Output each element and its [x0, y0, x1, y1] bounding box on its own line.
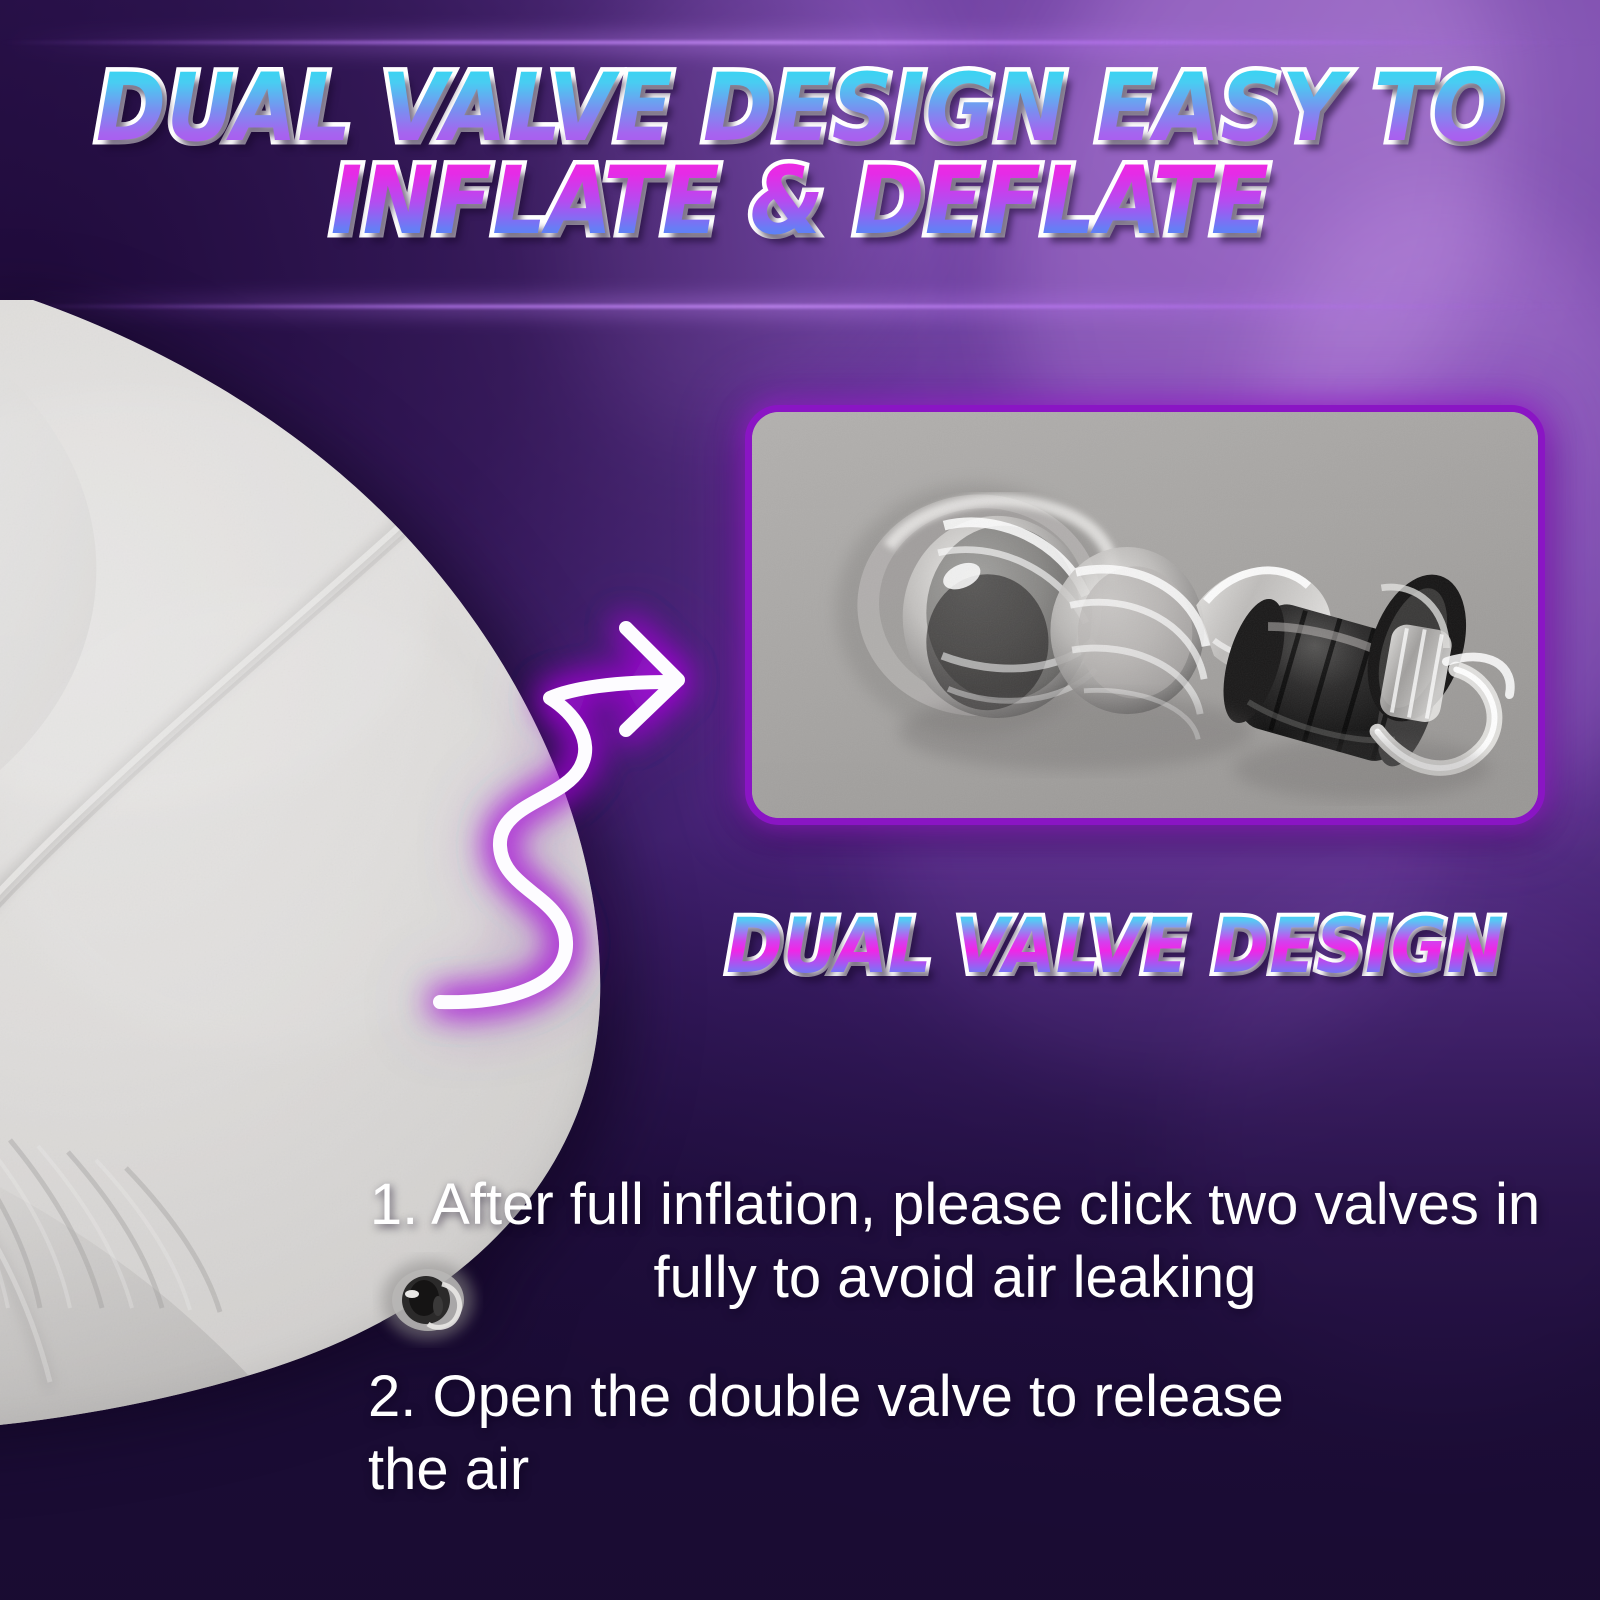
- headline-line-2-text: INFLATE & DEFLATE: [331, 155, 1270, 248]
- instruction-step-2: 2. Open the double valve to release the …: [330, 1360, 1580, 1506]
- glow-divider-line: [0, 41, 1600, 44]
- infographic-canvas: DUAL VALVE DESIGN EASY TO INFLATE & DEFL…: [0, 0, 1600, 1600]
- subhead-text: DUAL VALVE DESIGN: [726, 908, 1504, 984]
- instruction-step-2-line-2: the air: [368, 1433, 1580, 1506]
- subhead: DUAL VALVE DESIGN: [640, 908, 1590, 984]
- instruction-step-1: 1. After full inflation, please click tw…: [330, 1168, 1580, 1314]
- headline-line-2: INFLATE & DEFLATE: [0, 155, 1600, 248]
- valve-closeup-illustration: [751, 411, 1539, 819]
- headline: DUAL VALVE DESIGN EASY TO INFLATE & DEFL…: [0, 62, 1600, 248]
- valve-closeup-panel[interactable]: [745, 405, 1545, 825]
- instruction-step-2-line-1: 2. Open the double valve to release: [368, 1360, 1580, 1433]
- headline-line-1: DUAL VALVE DESIGN EASY TO: [0, 62, 1600, 155]
- instruction-list: 1. After full inflation, please click tw…: [330, 1168, 1580, 1506]
- headline-line-1-text: DUAL VALVE DESIGN EASY TO: [96, 62, 1504, 155]
